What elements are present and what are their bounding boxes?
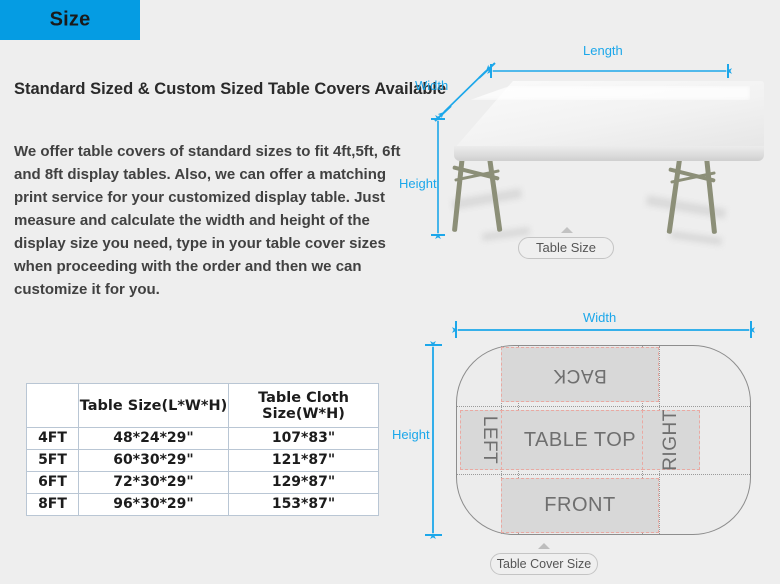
cover-panel-back-label: BACK (553, 364, 607, 386)
dimension-label-width: Width (415, 78, 448, 93)
table-size-caption: Table Size (518, 237, 614, 259)
size-section-banner: Size (0, 0, 140, 40)
cell-ft: 5FT (27, 450, 79, 472)
table-size-illustration: Length Width Height Table Size (400, 34, 780, 269)
table-top-highlight (470, 86, 750, 100)
cell-cloth-size: 121*87" (229, 450, 379, 472)
column-header-ft (27, 384, 79, 428)
cover-panel-right-label: RIGHT (660, 409, 682, 471)
size-table-body: 4FT 48*24*29" 107*83" 5FT 60*30*29" 121*… (27, 428, 379, 516)
fold-guide-horizontal (457, 474, 750, 475)
table-header-row: Table Size(L*W*H) Table Cloth Size(W*H) (27, 384, 379, 428)
column-header-cloth-size: Table Cloth Size(W*H) (229, 384, 379, 428)
cell-cloth-size: 107*83" (229, 428, 379, 450)
size-table-container: Table Size(L*W*H) Table Cloth Size(W*H) … (26, 383, 378, 516)
cover-panel-table-top: TABLE TOP (501, 410, 659, 470)
table-row: 4FT 48*24*29" 107*83" (27, 428, 379, 450)
dimension-label-height: Height (399, 176, 437, 191)
cell-ft: 4FT (27, 428, 79, 450)
size-table: Table Size(L*W*H) Table Cloth Size(W*H) … (26, 383, 379, 516)
cover-panel-left-label: LEFT (478, 416, 500, 464)
dimension-label-width: Width (583, 310, 616, 325)
intro-paragraph: We offer table covers of standard sizes … (14, 140, 402, 301)
cell-table-size: 72*30*29" (79, 472, 229, 494)
fold-guide-horizontal (457, 406, 750, 407)
caret-up-icon (561, 227, 573, 233)
table-row: 8FT 96*30*29" 153*87" (27, 494, 379, 516)
cover-panel-table-top-label: TABLE TOP (524, 429, 636, 452)
table-top-edge (454, 146, 764, 161)
dimension-label-height: Height (392, 427, 430, 442)
cell-table-size: 96*30*29" (79, 494, 229, 516)
leg-shadow (452, 188, 523, 210)
cell-table-size: 60*30*29" (79, 450, 229, 472)
cover-panel-front-label: FRONT (544, 494, 615, 517)
table-cover-size-caption: Table Cover Size (490, 553, 598, 575)
cover-panel-back: BACK (501, 347, 659, 402)
table-row: 5FT 60*30*29" 121*87" (27, 450, 379, 472)
table-leg (704, 156, 717, 234)
size-table-head: Table Size(L*W*H) Table Cloth Size(W*H) (27, 384, 379, 428)
table-cover-illustration: BACK LEFT TABLE TOP RIGHT FRONT Width He… (390, 310, 780, 584)
cover-panel-right: RIGHT (642, 410, 700, 470)
intro-heading: Standard Sized & Custom Sized Table Cove… (14, 80, 414, 99)
cell-cloth-size: 153*87" (229, 494, 379, 516)
cover-panel-front: FRONT (501, 478, 659, 533)
caret-up-icon (538, 543, 550, 549)
cell-table-size: 48*24*29" (79, 428, 229, 450)
cell-cloth-size: 129*87" (229, 472, 379, 494)
dimension-label-length: Length (583, 43, 623, 58)
cell-ft: 6FT (27, 472, 79, 494)
column-header-table-size: Table Size(L*W*H) (79, 384, 229, 428)
cell-ft: 8FT (27, 494, 79, 516)
size-section-banner-label: Size (0, 9, 140, 32)
table-row: 6FT 72*30*29" 129*87" (27, 472, 379, 494)
